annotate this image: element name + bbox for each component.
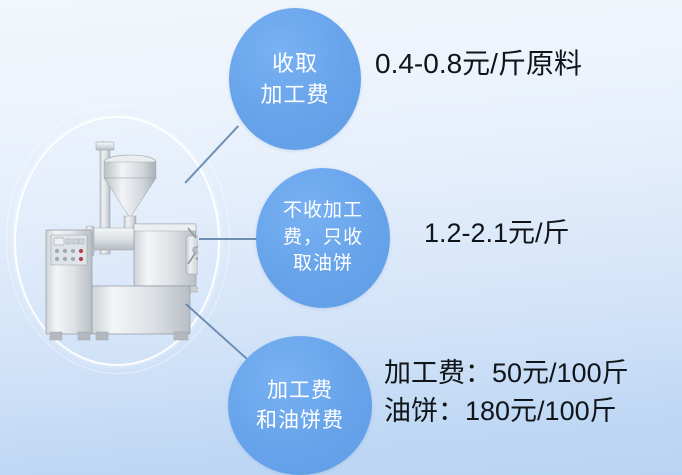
product-image-oil-press: [38, 140, 198, 350]
option-bubble-2-line-1: 不收加工: [283, 198, 363, 225]
option-bubble-3-line-2: 和油饼费: [256, 406, 344, 436]
option-price-label-3: 加工费：50元/100斤 油饼：180元/100斤: [384, 354, 629, 431]
option-bubble-3[interactable]: 加工费 和油饼费: [228, 336, 372, 475]
option-price-label-2-line-1: 1.2-2.1元/斤: [424, 218, 570, 248]
machine-hopper-cone: [104, 178, 156, 218]
option-price-label-2: 1.2-2.1元/斤: [424, 216, 570, 251]
machine-foot: [78, 332, 90, 340]
option-bubble-3-line-1: 加工费: [267, 376, 333, 406]
option-bubble-2-line-2: 费，只收: [283, 225, 363, 252]
machine-outlet-block: [186, 236, 198, 274]
option-price-label-1-line-1: 0.4-0.8元/斤原料: [375, 48, 582, 79]
option-bubble-1-line-2: 加工费: [260, 79, 329, 110]
machine-foot: [50, 332, 62, 340]
option-bubble-1-line-1: 收取: [272, 48, 318, 79]
option-price-label-1: 0.4-0.8元/斤原料: [375, 46, 582, 82]
option-bubble-2-line-3: 取油饼: [293, 251, 353, 278]
machine-panel-display: [54, 238, 64, 245]
option-price-label-3-line-2: 油饼：180元/100斤: [384, 392, 629, 430]
machine-foot: [174, 332, 188, 340]
infographic-stage: 收取 加工费 不收加工 费，只收 取油饼 加工费 和油饼费 0.4-0.8元/斤…: [0, 0, 682, 475]
option-price-label-3-line-1: 加工费：50元/100斤: [384, 354, 629, 392]
option-bubble-1[interactable]: 收取 加工费: [229, 8, 361, 150]
machine-base-body: [92, 286, 190, 334]
machine-foot: [96, 332, 108, 340]
option-bubble-2[interactable]: 不收加工 费，只收 取油饼: [256, 168, 390, 308]
connector-line-2: [199, 238, 261, 240]
